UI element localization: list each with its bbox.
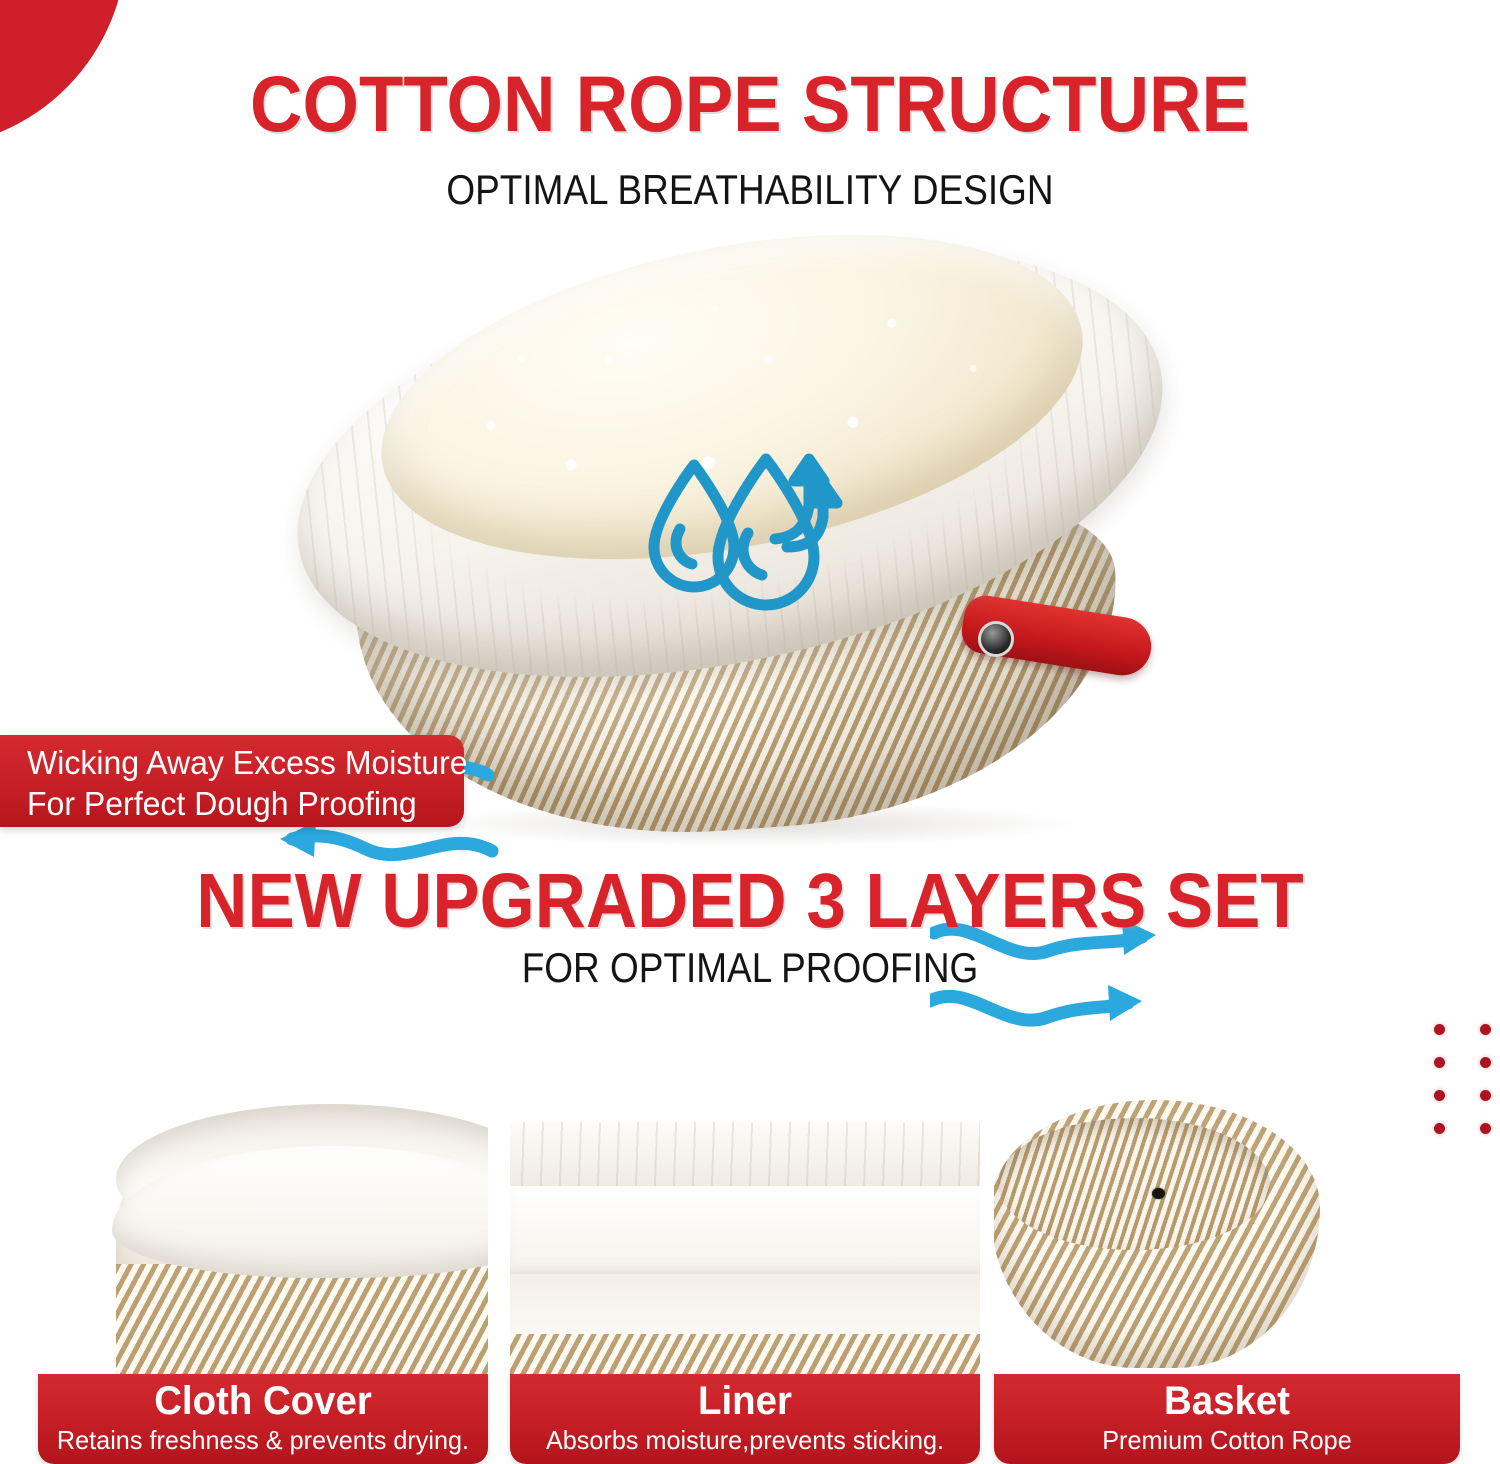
- caption-title: Cloth Cover: [47, 1378, 479, 1424]
- red-dot: [1434, 1024, 1445, 1035]
- rope-basket-interior: [998, 1118, 1270, 1250]
- caption-description: Retains freshness & prevents drying.: [45, 1424, 482, 1456]
- caption-bar-basket: Basket Premium Cotton Rope: [994, 1374, 1460, 1464]
- layers-section-title: NEW UPGRADED 3 LAYERS SET: [60, 857, 1440, 946]
- rope-basket-bowl: [994, 1100, 1320, 1368]
- layer-panel-cloth-cover: Cloth Cover Retains freshness & prevents…: [38, 1088, 488, 1464]
- caption-description: Absorbs moisture,prevents sticking.: [517, 1424, 973, 1456]
- red-dot: [1480, 1057, 1491, 1068]
- water-droplet-evaporation-icon: [648, 451, 868, 651]
- liner-lower-band: [510, 1274, 980, 1336]
- liner-ruffle-edge: [510, 1122, 980, 1188]
- layers-section-subtitle: FOR OPTIMAL PROOFING: [90, 944, 1410, 992]
- moisture-wicking-badge: Wicking Away Excess Moisture For Perfect…: [0, 735, 464, 827]
- red-dot-grid-decoration: [1434, 1024, 1500, 1144]
- cloth-cover-closeup-photo: [38, 1088, 488, 1374]
- liner-rope-edge: [510, 1334, 980, 1374]
- red-dot: [1434, 1090, 1445, 1101]
- red-dot: [1480, 1123, 1491, 1134]
- liner-main-band: [510, 1186, 980, 1276]
- page-title: COTTON ROPE STRUCTURE: [60, 58, 1440, 150]
- page-subtitle: OPTIMAL BREATHABILITY DESIGN: [90, 166, 1410, 214]
- red-dot: [1434, 1123, 1445, 1134]
- cotton-rope-basket-closeup-photo: [994, 1088, 1460, 1374]
- caption-title: Liner: [519, 1378, 970, 1424]
- layer-panel-basket: Basket Premium Cotton Rope: [994, 1088, 1460, 1464]
- red-dot: [1480, 1024, 1491, 1035]
- red-dot: [1434, 1057, 1445, 1068]
- liner-fabric-bands: [510, 1122, 980, 1372]
- badge-line-2: For Perfect Dough Proofing: [27, 783, 451, 824]
- layer-panels: Cloth Cover Retains freshness & prevents…: [0, 1088, 1500, 1464]
- caption-bar-cloth-cover: Cloth Cover Retains freshness & prevents…: [38, 1374, 488, 1464]
- cloth-cover-rope-weave: [116, 1264, 488, 1374]
- caption-title: Basket: [1003, 1378, 1450, 1424]
- caption-description: Premium Cotton Rope: [1001, 1424, 1453, 1456]
- red-dot: [1480, 1090, 1491, 1101]
- liner-closeup-photo: [510, 1088, 980, 1374]
- badge-line-1: Wicking Away Excess Moisture: [27, 742, 451, 783]
- basket-rivet-hole-icon: [1152, 1188, 1165, 1199]
- caption-bar-liner: Liner Absorbs moisture,prevents sticking…: [510, 1374, 980, 1464]
- layer-panel-liner: Liner Absorbs moisture,prevents sticking…: [510, 1088, 980, 1464]
